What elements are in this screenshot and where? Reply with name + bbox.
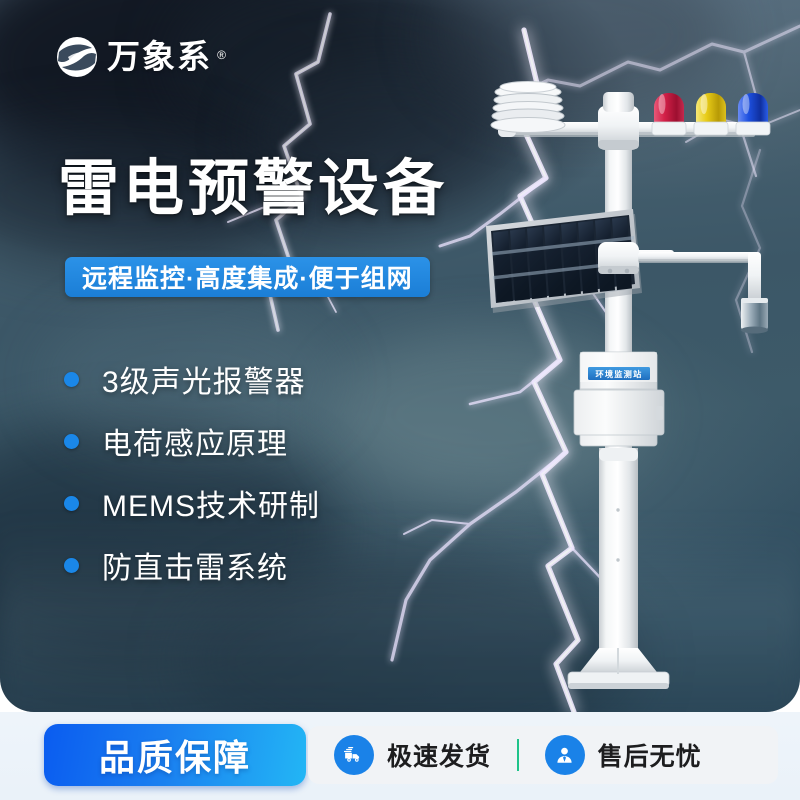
blue-dot-icon [64, 372, 79, 387]
service-features-pill: 极速发货 售后无忧 [308, 726, 778, 784]
mast-pole-lower [599, 448, 638, 648]
blue-dot-icon [64, 434, 79, 449]
customer-service-person-icon [545, 735, 585, 775]
feature-label: 电荷感应原理 [102, 419, 288, 463]
alarm-lamp-stack [652, 93, 770, 135]
page-title: 雷电预警设备 [58, 158, 448, 219]
service-aftersales-label: 售后无忧 [598, 737, 702, 773]
feature-label: 3级声光报警器 [102, 357, 306, 401]
radiation-shield-sensor [491, 82, 565, 138]
service-item-shipping[interactable]: 极速发货 [334, 735, 491, 775]
list-item: 防直击雷系统 [64, 534, 320, 596]
brand-name: 万象系 ® [107, 36, 212, 78]
alarm-lamp-yellow [694, 93, 728, 135]
controller-box: 环境监测站 [574, 352, 664, 446]
brand-logo: 万象系 ® [56, 36, 212, 78]
product-image: 环境监测站 [460, 80, 800, 700]
feature-label: 防直击雷系统 [102, 543, 288, 587]
quality-guarantee-label: 品质保障 [99, 729, 251, 781]
feature-list: 3级声光报警器 电荷感应原理 MEMS技术研制 防直击雷系统 [64, 348, 320, 596]
delivery-truck-icon [334, 735, 374, 775]
pole-collar [598, 242, 639, 274]
quality-guarantee-badge[interactable]: 品质保障 [44, 724, 306, 786]
alarm-lamp-blue [736, 93, 770, 135]
registered-mark: ® [217, 34, 226, 76]
service-shipping-label: 极速发货 [387, 737, 491, 773]
blue-dot-icon [64, 558, 79, 573]
list-item: 3级声光报警器 [64, 348, 320, 410]
box-label-text: 环境监测站 [596, 369, 643, 379]
side-arm-sensor [638, 252, 768, 334]
list-item: 电荷感应原理 [64, 410, 320, 472]
brand-name-text: 万象系 [107, 38, 212, 75]
divider [517, 739, 519, 771]
subtitle-badge: 远程监控·高度集成·便于组网 [65, 257, 430, 297]
alarm-lamp-red [652, 93, 686, 135]
product-poster: 万象系 ® 雷电预警设备 远程监控·高度集成·便于组网 3级声光报警器 电荷感应… [0, 0, 800, 800]
trust-bar: 品质保障 极速发货 [0, 712, 800, 800]
arm-hub [598, 92, 639, 150]
feature-label: MEMS技术研制 [102, 481, 320, 525]
list-item: MEMS技术研制 [64, 472, 320, 534]
blue-dot-icon [64, 496, 79, 511]
service-item-aftersales[interactable]: 售后无忧 [545, 735, 702, 775]
base-plate [568, 648, 669, 689]
swirl-globe-logo-icon [56, 36, 98, 78]
